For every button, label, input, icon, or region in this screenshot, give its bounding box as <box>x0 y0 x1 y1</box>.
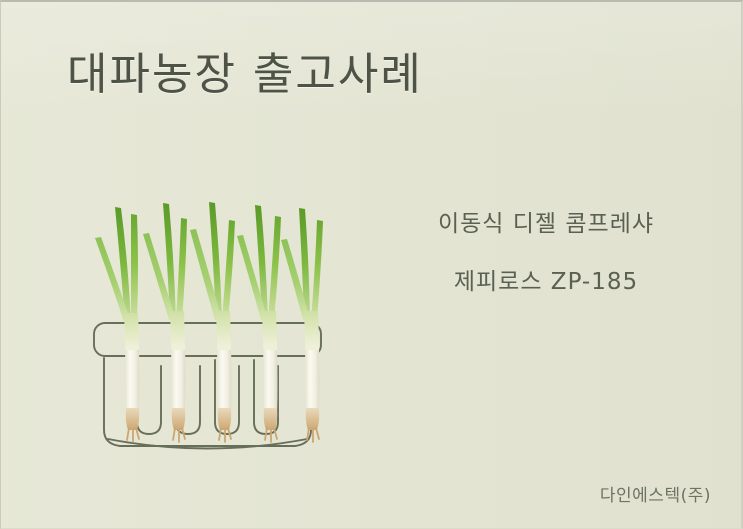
subtitle-block: 이동식 디젤 콤프레샤 제피로스 ZP-185 <box>381 208 711 298</box>
page-title: 대파농장 출고사례 <box>67 46 423 104</box>
subtitle-product-type: 이동식 디젤 콤프레샤 <box>381 208 711 240</box>
presentation-slide: 대파농장 출고사례 <box>0 0 743 529</box>
green-onions-in-basket-illustration <box>71 190 341 470</box>
subtitle-product-model: 제피로스 ZP-185 <box>381 266 711 298</box>
company-footer: 다인에스텍(주) <box>600 481 711 506</box>
